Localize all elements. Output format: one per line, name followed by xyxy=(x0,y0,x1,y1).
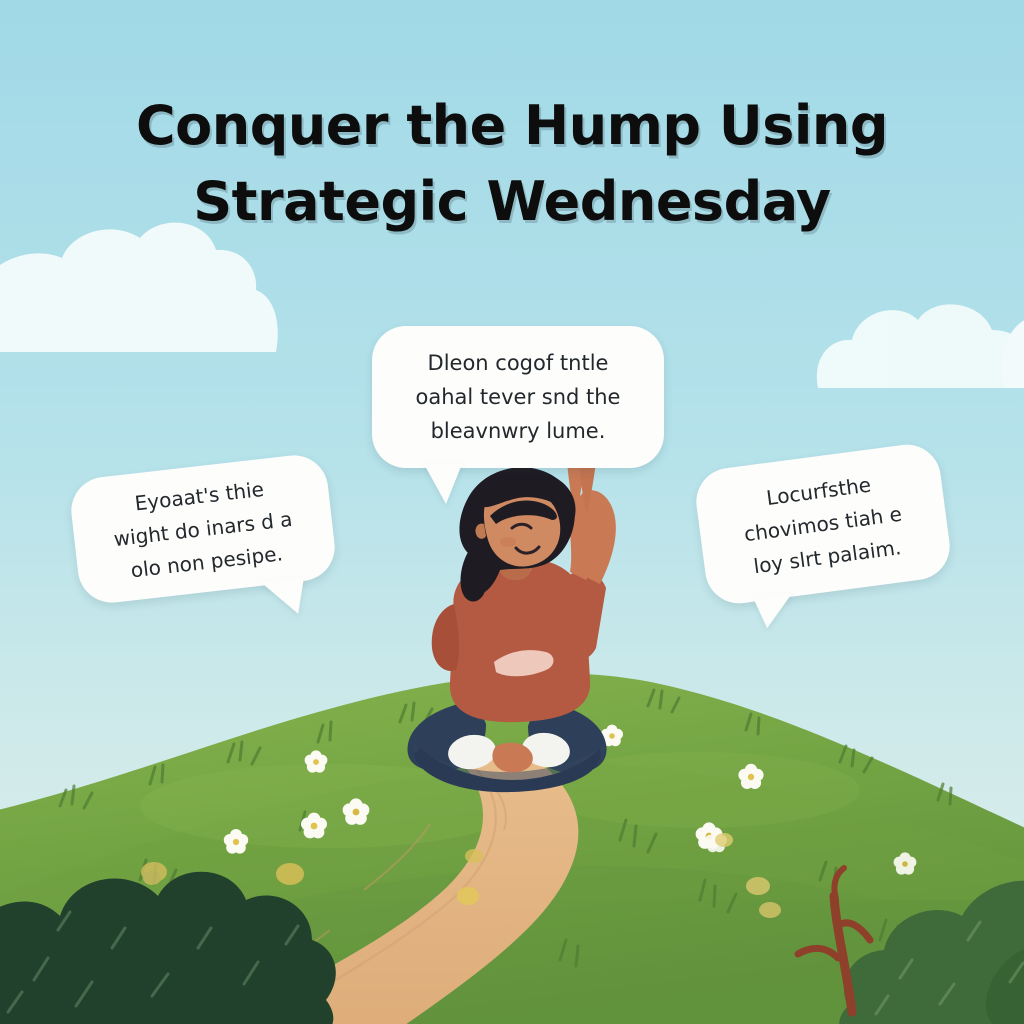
speech-bubble-right-text: Locurfsthe chovimos tiah e loy slrt pala… xyxy=(718,462,928,586)
speech-bubble-center-text: Dleon cogof tntle oahal tever snd the bl… xyxy=(396,346,641,448)
speech-bubble-center-tail xyxy=(424,464,462,504)
speech-bubble-left-tail xyxy=(260,577,308,618)
bubble-left-line-3: olo non pesipe. xyxy=(129,541,283,582)
bubble-right-line-1: Locurfsthe xyxy=(765,472,872,510)
bubble-center-line-2: oahal tever snd the xyxy=(416,385,621,409)
speech-bubble-center: Dleon cogof tntle oahal tever snd the bl… xyxy=(372,326,664,468)
bubble-center-line-3: bleavnwry lume. xyxy=(431,419,606,443)
bubble-left-line-1: Eyoaat's thie xyxy=(133,476,265,515)
speech-bubble-right-tail xyxy=(753,593,797,630)
speech-bubble-left-text: Eyoaat's thie wight do inars d a olo non… xyxy=(88,467,317,590)
bubble-center-line-1: Dleon cogof tntle xyxy=(428,351,609,375)
poster-canvas: Conquer the Hump Using Strategic Wednesd… xyxy=(0,0,1024,1024)
